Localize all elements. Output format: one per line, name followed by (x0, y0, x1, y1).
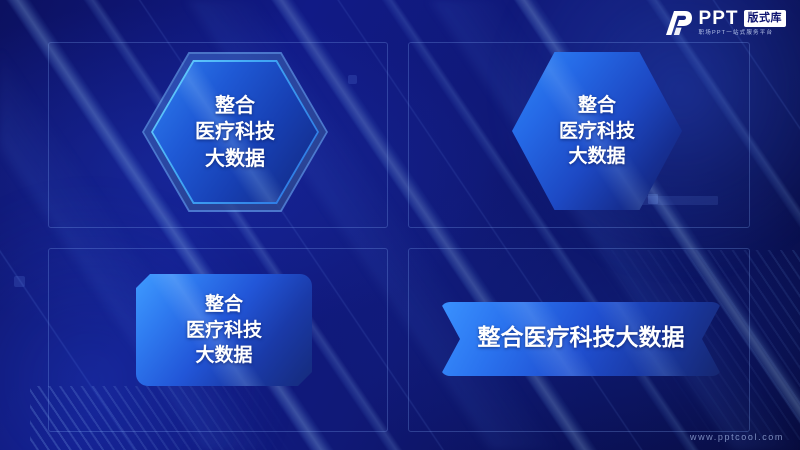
logo-badge: 版式库 (744, 10, 787, 27)
shape-rounded-card[interactable]: 整合 医疗科技 大数据 (136, 274, 312, 386)
background-dot (14, 276, 25, 287)
hexagon-solid-sheen (512, 52, 682, 210)
logo-tagline: 职场PPT一站式服务平台 (699, 31, 774, 37)
shape-hexagon-outlined[interactable]: 整合 医疗科技 大数据 (142, 52, 328, 212)
logo-text-ppt: PPT (699, 9, 739, 28)
card-sheen (136, 274, 312, 386)
footer-url: www.pptcool.com (690, 432, 784, 442)
banner-sheen (440, 302, 722, 376)
logo-wordmark: PPT 版式库 职场PPT一站式服务平台 (699, 9, 786, 37)
brand-logo: PPT 版式库 职场PPT一站式服务平台 (663, 6, 786, 40)
shape-notched-banner[interactable]: 整合医疗科技大数据 (440, 302, 722, 376)
ppt-p-logo-icon (663, 8, 693, 38)
logo-wordmark-row: PPT 版式库 (699, 9, 786, 28)
slide-canvas: PPT 版式库 职场PPT一站式服务平台 整合 医疗科技 大数据 整合 医疗科技… (0, 0, 800, 450)
shape-hexagon-solid[interactable]: 整合 医疗科技 大数据 (512, 52, 682, 210)
